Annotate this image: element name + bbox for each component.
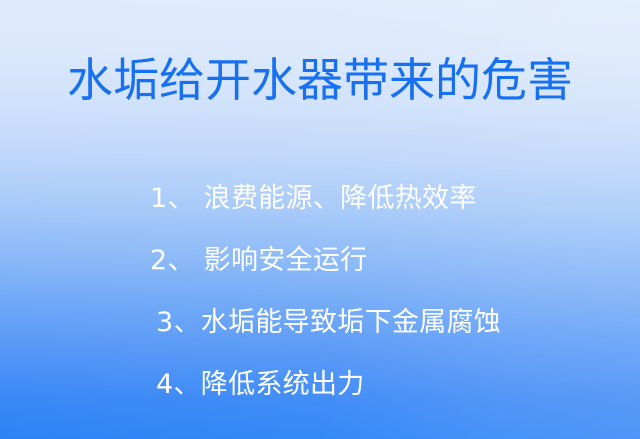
list-item: 4、降低系统出力	[150, 354, 610, 416]
list-item: 3、水垢能导致垢下金属腐蚀	[150, 292, 610, 354]
list-item: 1、 浪费能源、降低热效率	[150, 168, 610, 230]
page-title: 水垢给开水器带来的危害	[0, 52, 640, 108]
presentation-slide: 水垢给开水器带来的危害 1、 浪费能源、降低热效率 2、 影响安全运行 3、水垢…	[0, 0, 640, 439]
bullet-list: 1、 浪费能源、降低热效率 2、 影响安全运行 3、水垢能导致垢下金属腐蚀 4、…	[150, 168, 610, 416]
list-item: 2、 影响安全运行	[150, 230, 610, 292]
